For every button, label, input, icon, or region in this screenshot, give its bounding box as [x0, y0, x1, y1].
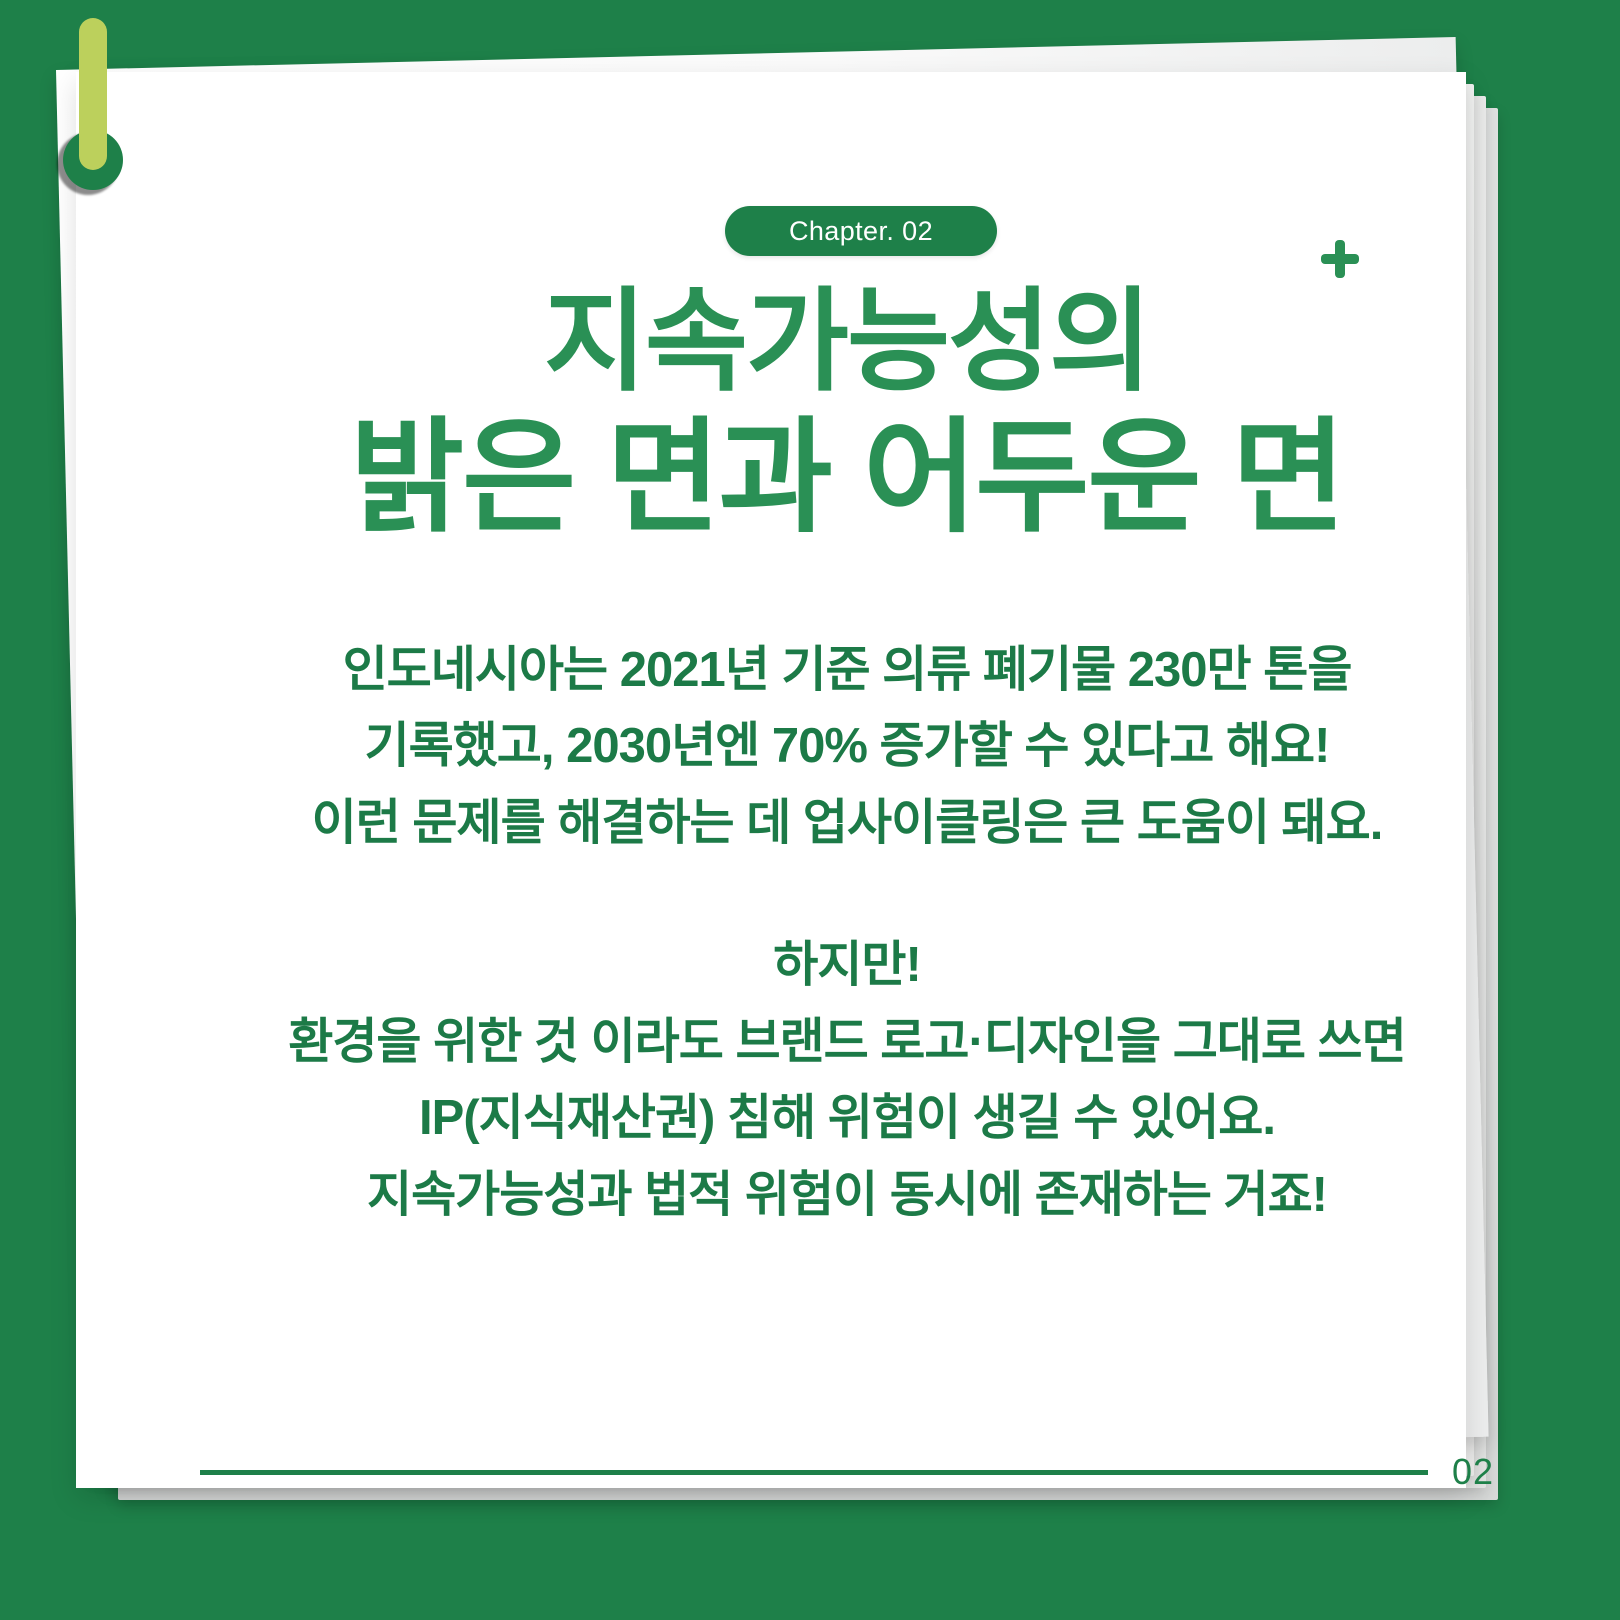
chapter-badge[interactable]: Chapter. 02	[725, 206, 997, 256]
paragraph-2: 하지만! 환경을 위한 것 이라도 브랜드 로고·디자인을 그대로 쓰면 IP(…	[152, 927, 1542, 1233]
paragraph-1: 인도네시아는 2021년 기준 의류 폐기물 230만 톤을 기록했고, 203…	[152, 632, 1542, 861]
paragraph-spacer	[152, 861, 1542, 927]
page-title-line-2: 밝은 면과 어두운 면	[152, 407, 1542, 551]
paragraph-1-line-1: 인도네시아는 2021년 기준 의류 폐기물 230만 톤을	[152, 632, 1542, 708]
paragraph-2-line-4: 지속가능성과 법적 위험이 동시에 존재하는 거죠!	[152, 1157, 1542, 1233]
paragraph-2-line-2: 환경을 위한 것 이라도 브랜드 로고·디자인을 그대로 쓰면	[152, 1004, 1542, 1080]
slide-canvas: Chapter. 02 지속가능성의 밝은 면과 어두운 면 인도네시아는 20…	[0, 0, 1620, 1620]
body-copy: 인도네시아는 2021년 기준 의류 폐기물 230만 톤을 기록했고, 203…	[152, 632, 1542, 1233]
footer-divider	[200, 1470, 1428, 1475]
pin-bar-icon	[79, 18, 107, 170]
paragraph-1-line-3: 이런 문제를 해결하는 데 업사이클링은 큰 도움이 돼요.	[152, 785, 1542, 861]
paragraph-2-line-1: 하지만!	[152, 927, 1542, 1003]
page-title-line-1: 지속가능성의	[152, 277, 1542, 407]
content-card: Chapter. 02 지속가능성의 밝은 면과 어두운 면 인도네시아는 20…	[76, 72, 1466, 1488]
page-number: 02	[1452, 1451, 1494, 1493]
paragraph-2-line-3: IP(지식재산권) 침해 위험이 생길 수 있어요.	[152, 1080, 1542, 1156]
card-footer: 02	[152, 1442, 1542, 1502]
plus-icon	[1321, 240, 1359, 278]
paragraph-1-line-2: 기록했고, 2030년엔 70% 증가할 수 있다고 해요!	[152, 708, 1542, 784]
page-title: 지속가능성의 밝은 면과 어두운 면	[152, 277, 1542, 551]
